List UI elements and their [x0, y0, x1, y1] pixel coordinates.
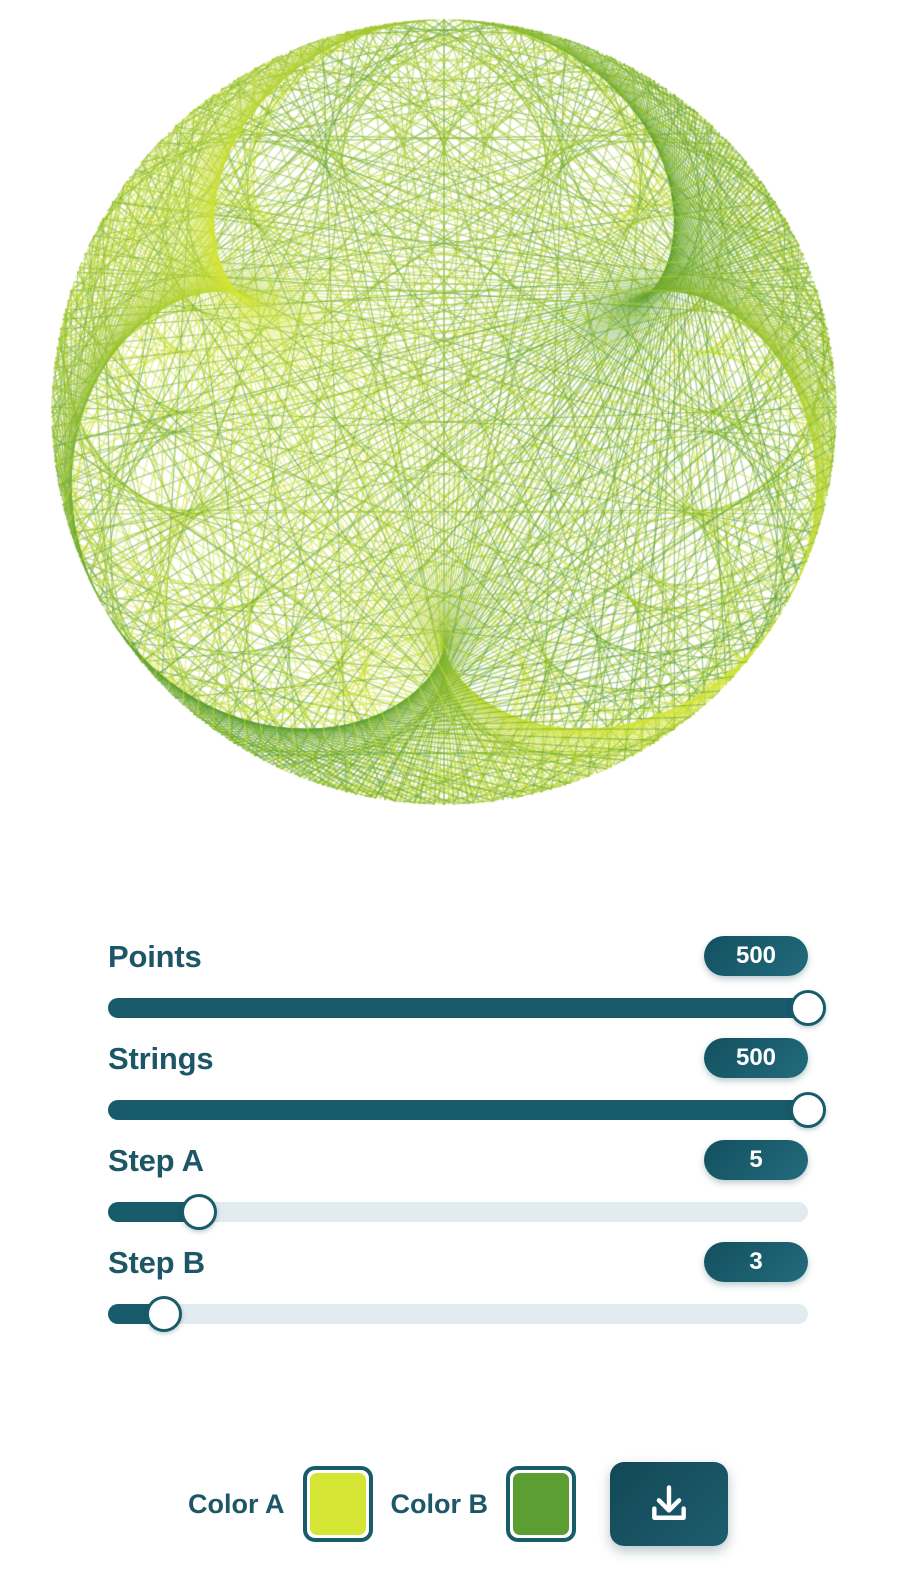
string-art-canvas[interactable]: [0, 0, 916, 900]
control-header-step-b: Step B 3: [108, 1236, 808, 1288]
bottom-action-row: Color A Color B: [0, 1462, 916, 1546]
slider-thumb-points[interactable]: [790, 990, 826, 1026]
control-group-step-a: Step A 5: [108, 1134, 808, 1236]
controls-panel: Points 500 Strings 500 Step A 5: [0, 930, 916, 1338]
color-swatch-b-fill: [513, 1473, 569, 1535]
download-button[interactable]: [610, 1462, 728, 1546]
label-color-b: Color B: [391, 1491, 489, 1518]
slider-strings[interactable]: [108, 1086, 808, 1134]
control-group-step-b: Step B 3: [108, 1236, 808, 1338]
control-group-strings: Strings 500: [108, 1032, 808, 1134]
color-swatch-a[interactable]: [303, 1466, 373, 1542]
color-field-b: Color B: [391, 1466, 577, 1542]
slider-fill-strings: [108, 1100, 808, 1120]
color-swatch-b[interactable]: [506, 1466, 576, 1542]
slider-step-b[interactable]: [108, 1290, 808, 1338]
color-field-a: Color A: [188, 1466, 373, 1542]
label-color-a: Color A: [188, 1491, 285, 1518]
slider-track-step-b[interactable]: [108, 1304, 808, 1324]
slider-points[interactable]: [108, 984, 808, 1032]
slider-thumb-step-a[interactable]: [181, 1194, 217, 1230]
value-badge-points: 500: [704, 936, 808, 976]
label-step-a: Step A: [108, 1145, 204, 1176]
slider-thumb-strings[interactable]: [790, 1092, 826, 1128]
value-badge-step-b: 3: [704, 1242, 808, 1282]
label-step-b: Step B: [108, 1247, 205, 1278]
control-group-points: Points 500: [108, 930, 808, 1032]
label-points: Points: [108, 941, 202, 972]
label-strings: Strings: [108, 1043, 213, 1074]
download-icon: [647, 1482, 691, 1526]
slider-fill-points: [108, 998, 808, 1018]
slider-step-a[interactable]: [108, 1188, 808, 1236]
control-header-step-a: Step A 5: [108, 1134, 808, 1186]
control-header-strings: Strings 500: [108, 1032, 808, 1084]
control-header-points: Points 500: [108, 930, 808, 982]
value-badge-strings: 500: [704, 1038, 808, 1078]
color-swatch-a-fill: [310, 1473, 366, 1535]
value-badge-step-a: 5: [704, 1140, 808, 1180]
slider-thumb-step-b[interactable]: [146, 1296, 182, 1332]
artwork-stage: [0, 0, 916, 900]
